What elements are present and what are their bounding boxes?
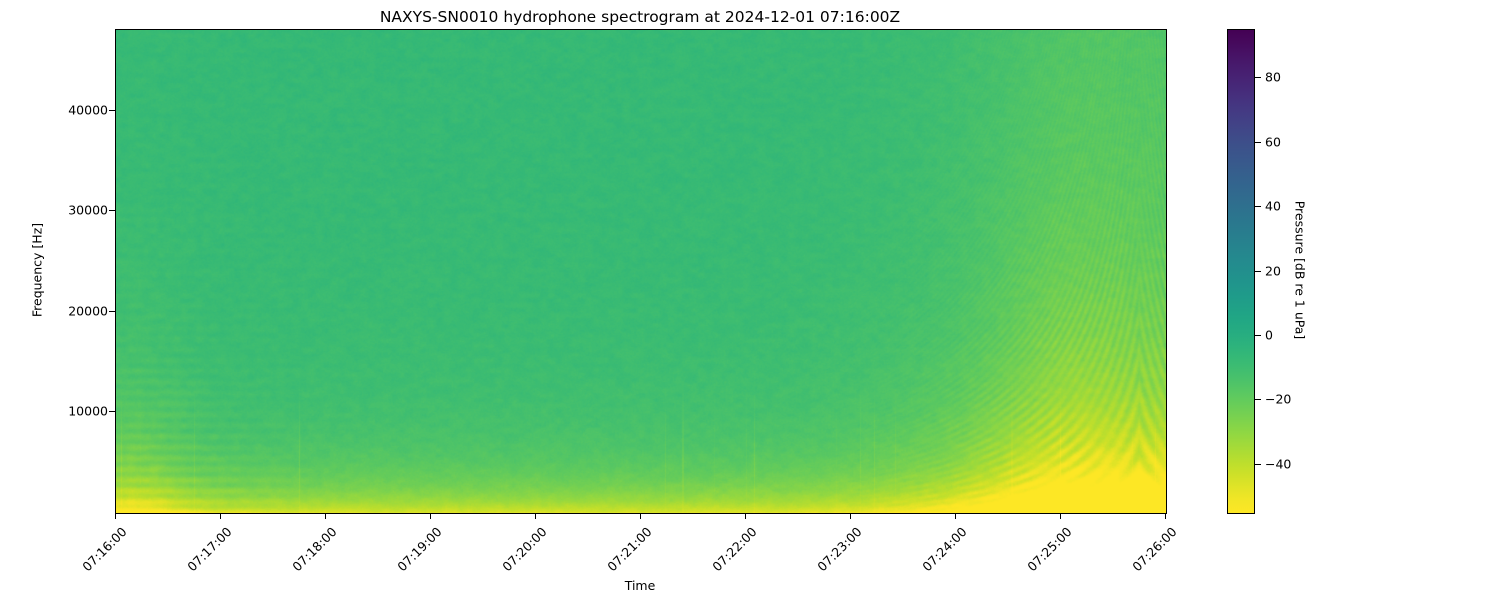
x-axis-tick-mark <box>325 513 326 519</box>
x-axis-tick-label: 07:24:00 <box>919 524 969 574</box>
colorbar-tick-label: −40 <box>1265 456 1291 471</box>
y-axis-tick-label: 20000 <box>0 303 108 318</box>
colorbar-gradient <box>1228 30 1254 513</box>
x-axis-tick-label: 07:22:00 <box>709 524 759 574</box>
colorbar-tick-mark <box>1255 206 1261 207</box>
colorbar-tick-mark <box>1255 271 1261 272</box>
spectrogram-image <box>116 30 1166 513</box>
colorbar-tick-mark <box>1255 335 1261 336</box>
x-axis-tick-mark <box>430 513 431 519</box>
colorbar-tick-label: 80 <box>1265 70 1281 85</box>
colorbar-tick-label: 60 <box>1265 134 1281 149</box>
x-axis-label: Time <box>625 578 656 593</box>
colorbar-tick-label: 20 <box>1265 263 1281 278</box>
colorbar-label: Pressure [dB re 1 uPa] <box>1293 201 1308 340</box>
colorbar-tick-label: 0 <box>1265 327 1273 342</box>
x-axis-tick-label: 07:20:00 <box>499 524 549 574</box>
x-axis-tick-mark <box>1165 513 1166 519</box>
spectrogram-plot-area[interactable] <box>115 29 1167 514</box>
x-axis-tick-label: 07:18:00 <box>289 524 339 574</box>
x-axis-tick-label: 07:26:00 <box>1129 524 1179 574</box>
colorbar-tick-label: −20 <box>1265 392 1291 407</box>
y-axis-tick-label: 10000 <box>0 404 108 419</box>
x-axis-tick-mark <box>640 513 641 519</box>
x-axis-tick-mark <box>745 513 746 519</box>
colorbar-tick-mark <box>1255 77 1261 78</box>
x-axis-tick-mark <box>535 513 536 519</box>
x-axis-tick-label: 07:25:00 <box>1024 524 1074 574</box>
page-title: NAXYS-SN0010 hydrophone spectrogram at 2… <box>0 8 1280 26</box>
x-axis-tick-mark <box>850 513 851 519</box>
x-axis-tick-mark <box>1060 513 1061 519</box>
x-axis-tick-label: 07:21:00 <box>604 524 654 574</box>
colorbar-tick-mark <box>1255 142 1261 143</box>
x-axis-tick-mark <box>955 513 956 519</box>
colorbar-tick-mark <box>1255 464 1261 465</box>
colorbar[interactable] <box>1227 29 1255 514</box>
x-axis-tick-label: 07:23:00 <box>814 524 864 574</box>
x-axis-tick-mark <box>115 513 116 519</box>
y-axis-tick-label: 40000 <box>0 102 108 117</box>
x-axis-tick-label: 07:16:00 <box>79 524 129 574</box>
y-axis-tick-label: 30000 <box>0 203 108 218</box>
x-axis-tick-mark <box>220 513 221 519</box>
x-axis-tick-label: 07:17:00 <box>184 524 234 574</box>
colorbar-tick-mark <box>1255 399 1261 400</box>
spectrogram-figure: NAXYS-SN0010 hydrophone spectrogram at 2… <box>0 0 1500 600</box>
colorbar-tick-label: 40 <box>1265 199 1281 214</box>
x-axis-tick-label: 07:19:00 <box>394 524 444 574</box>
